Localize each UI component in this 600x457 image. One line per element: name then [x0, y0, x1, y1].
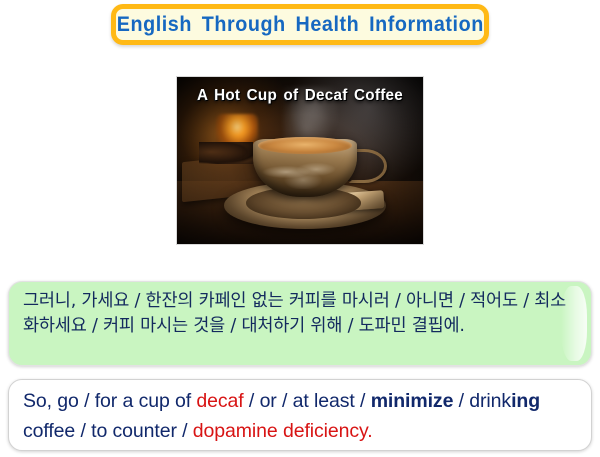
english-segment-7: dopamine deficiency.	[193, 420, 373, 442]
english-segment-5: ing	[511, 390, 540, 412]
lesson-title-banner: English Through Health Information	[111, 4, 489, 45]
english-segment-3: minimize	[371, 390, 454, 412]
illustration-area: A Hot Cup of Decaf Coffee	[0, 76, 600, 245]
english-sentence-card: So, go / for a cup of decaf / or / at le…	[8, 379, 592, 451]
english-sentence-text: So, go / for a cup of decaf / or / at le…	[23, 386, 577, 446]
english-segment-0: So, go / for a cup of	[23, 390, 196, 412]
title-banner-area: English Through Health Information	[0, 4, 600, 45]
korean-translation-card: 그러니, 가세요 / 한잔의 카페인 없는 커피를 마시러 / 아니면 / 적어…	[8, 281, 592, 366]
coffee-photo: A Hot Cup of Decaf Coffee	[176, 76, 424, 245]
korean-sentence-text: 그러니, 가세요 / 한잔의 카페인 없는 커피를 마시러 / 아니면 / 적어…	[23, 289, 577, 339]
photo-caption-text: A Hot Cup of Decaf Coffee	[183, 87, 417, 105]
lesson-title-text: English Through Health Information	[116, 13, 483, 37]
english-segment-6: coffee / to counter /	[23, 420, 193, 442]
english-segment-4: / drink	[453, 390, 511, 412]
english-segment-2: / or / at least /	[244, 390, 371, 412]
english-segment-1: decaf	[196, 390, 243, 412]
